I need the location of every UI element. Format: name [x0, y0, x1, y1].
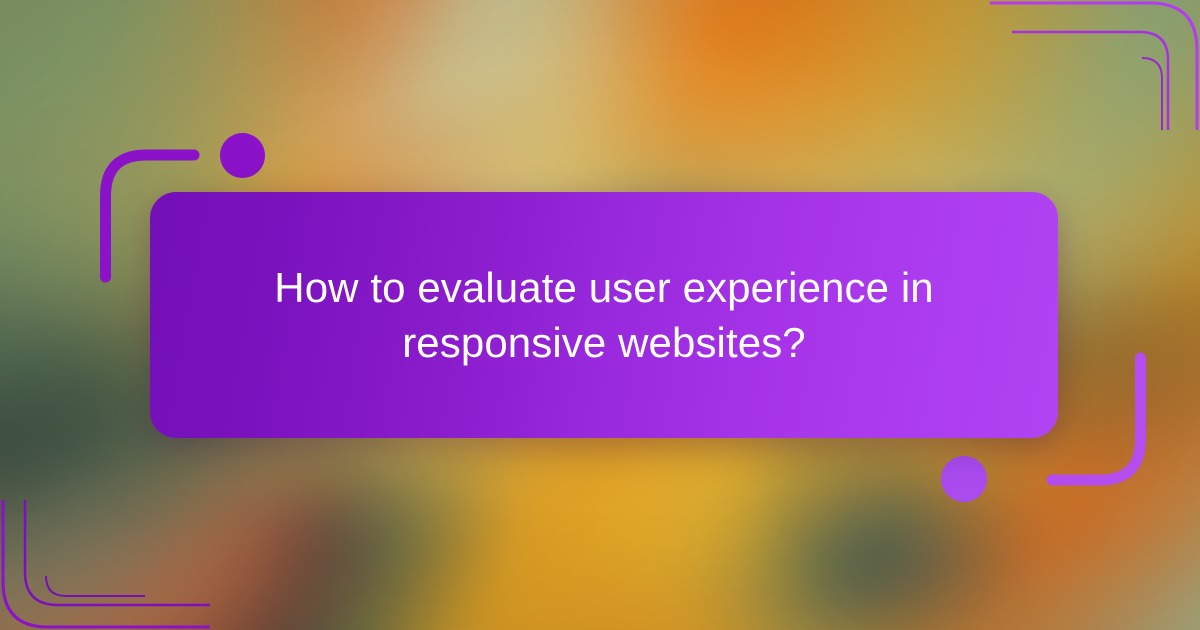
dot-top-left-icon	[220, 133, 265, 178]
dot-bottom-right-icon	[941, 456, 987, 502]
headline-title: How to evaluate user experience in respo…	[264, 260, 944, 371]
og-share-card: How to evaluate user experience in respo…	[0, 0, 1200, 630]
headline-card: How to evaluate user experience in respo…	[150, 192, 1058, 438]
